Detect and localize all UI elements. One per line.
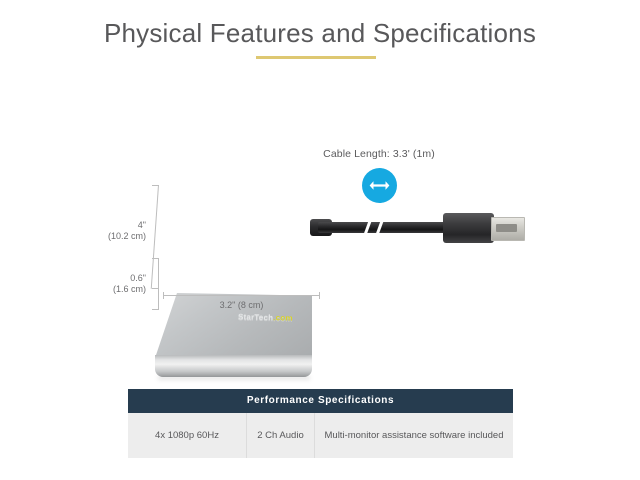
width-dimension-tick-left [163,292,164,299]
usb-connector-housing [443,213,494,243]
depth-value-metric: (1.6 cm) [70,284,146,295]
width-dimension-line [163,295,320,296]
spec-cell-software: Multi-monitor assistance software includ… [314,413,513,458]
performance-specifications-table: Performance Specifications 4x 1080p 60Hz… [128,389,513,458]
height-value-metric: (10.2 cm) [70,231,146,242]
cable-length-badge [362,168,397,203]
height-value-imperial: 4" [70,220,146,231]
brand-logo-text: StarTech [238,312,273,322]
spec-cell-video: 4x 1080p 60Hz [128,413,246,458]
depth-dimension-label: 0.6" (1.6 cm) [70,273,146,295]
width-dimension-label: 3.2" (8 cm) [163,300,320,310]
device-shadow [158,376,310,380]
cable-length-label: Cable Length: 3.3' (1m) [300,148,458,160]
spec-table-row: 4x 1080p 60Hz 2 Ch Audio Multi-monitor a… [128,413,513,458]
height-dimension-label: 4" (10.2 cm) [70,220,146,242]
depth-dimension-tick-bottom [152,309,159,310]
device-front-bevel [155,355,312,377]
usb-connector-tongue [496,224,517,232]
title-underline [256,56,376,59]
product-illustration: Cable Length: 3.3' (1m) StarTech.com 4" … [0,110,640,340]
height-dimension-tick-top [152,185,159,186]
spec-table-header: Performance Specifications [128,389,513,413]
spec-cell-audio: 2 Ch Audio [246,413,314,458]
depth-value-imperial: 0.6" [70,273,146,284]
brand-logo-suffix: .com [273,313,293,323]
page-title: Physical Features and Specifications [0,18,640,49]
cable-length-callout: Cable Length: 3.3' (1m) [300,148,458,203]
depth-dimension-tick-top [152,258,159,259]
double-arrow-horizontal-icon [369,180,390,191]
depth-dimension-line [158,258,159,310]
usb-cable [318,222,458,233]
width-dimension-tick-right [319,292,320,299]
brand-logo: StarTech.com [238,312,293,322]
